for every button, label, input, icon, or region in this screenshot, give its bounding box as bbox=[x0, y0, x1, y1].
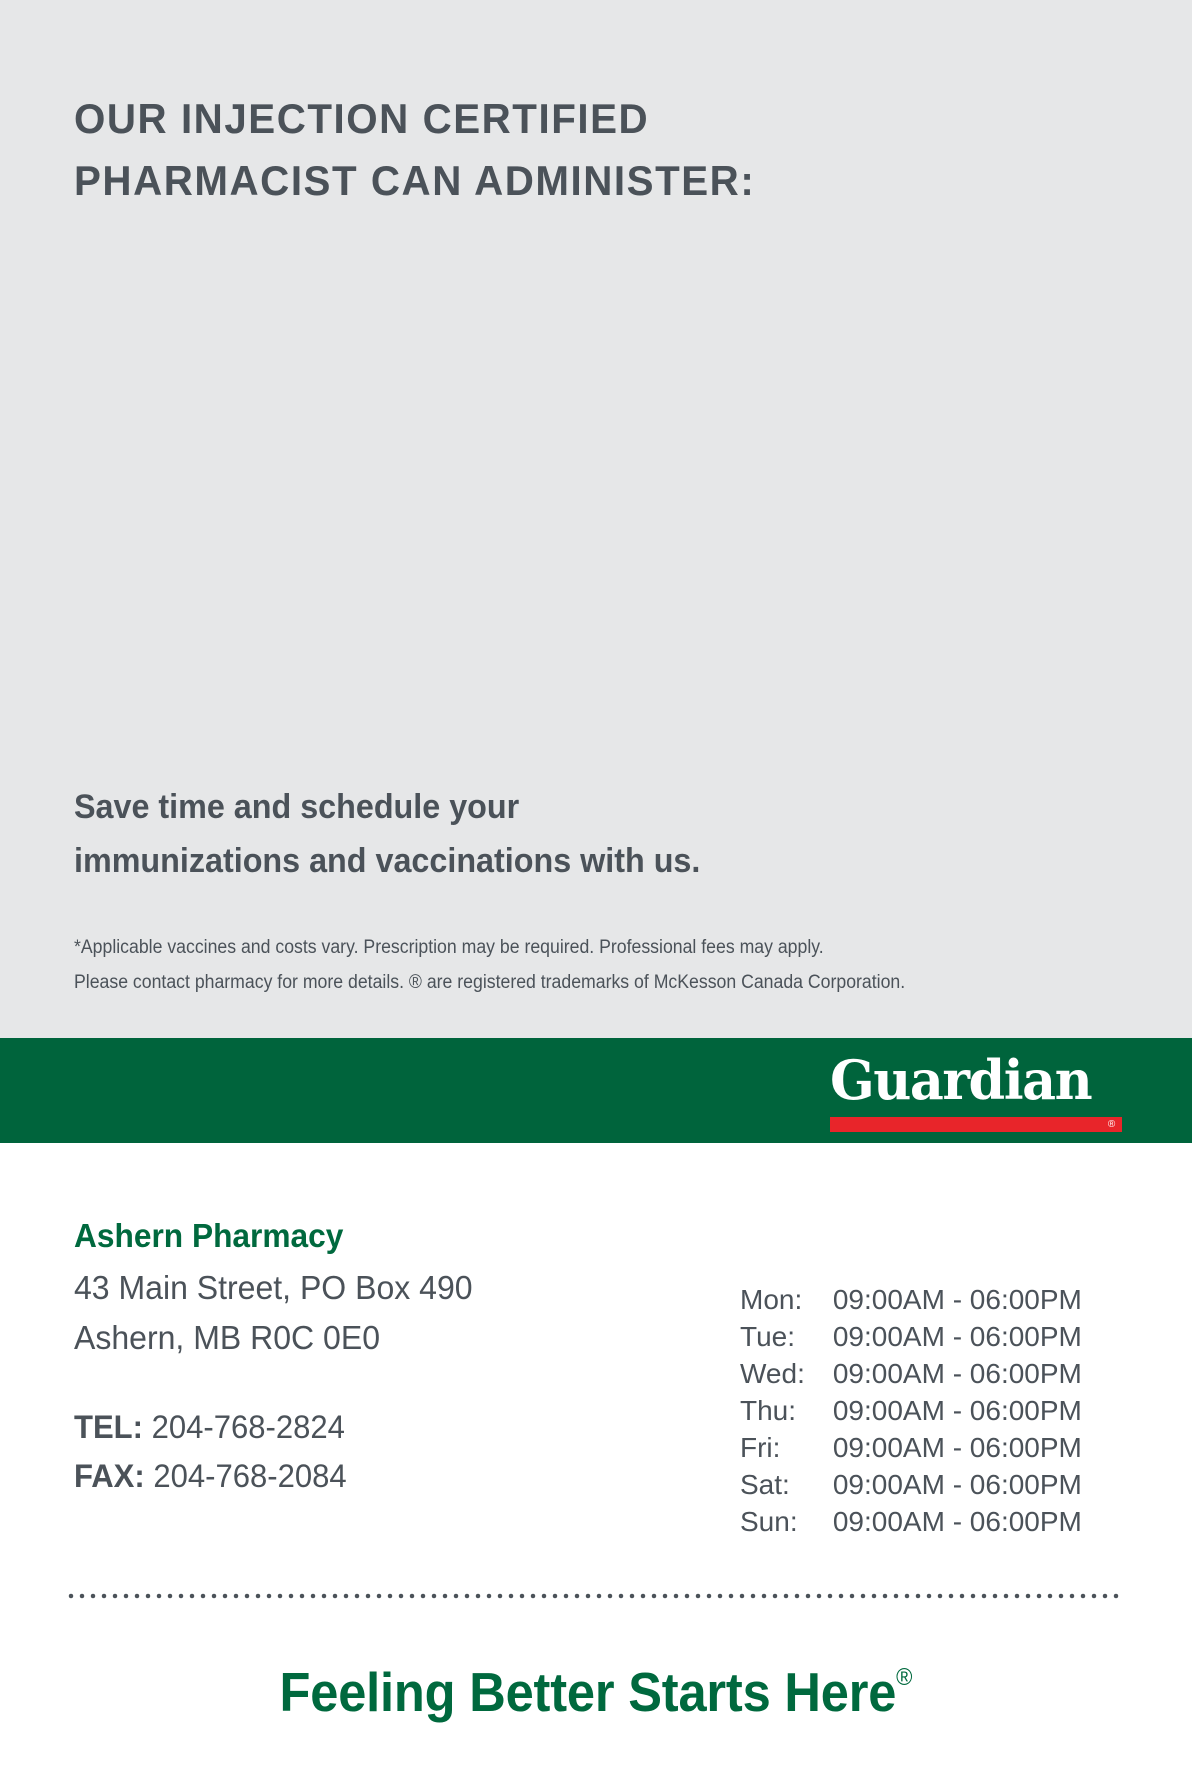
store-address-line-1: 43 Main Street, PO Box 490 bbox=[74, 1263, 675, 1313]
tagline-text: Feeling Better Starts Here bbox=[280, 1661, 897, 1723]
disclaimer-line-2: Please contact pharmacy for more details… bbox=[74, 965, 1069, 1000]
store-name: Ashern Pharmacy bbox=[74, 1215, 669, 1257]
table-row: Wed: 09:00AM - 06:00PM bbox=[740, 1361, 1082, 1398]
table-row: Tue: 09:00AM - 06:00PM bbox=[740, 1324, 1082, 1361]
disclaimer-line-1: *Applicable vaccines and costs vary. Pre… bbox=[74, 930, 1069, 965]
headline-line-2: PHARMACIST CAN ADMINISTER: bbox=[74, 150, 938, 212]
hours-time: 09:00AM - 06:00PM bbox=[833, 1435, 1082, 1472]
store-contact-block: TEL: 204-768-2824 FAX: 204-768-2084 bbox=[74, 1403, 675, 1501]
hours-time: 09:00AM - 06:00PM bbox=[833, 1361, 1082, 1398]
disclaimer-text: *Applicable vaccines and costs vary. Pre… bbox=[74, 930, 1069, 1000]
store-address-line-2: Ashern, MB R0C 0E0 bbox=[74, 1313, 675, 1363]
hours-time: 09:00AM - 06:00PM bbox=[833, 1398, 1082, 1435]
hours-day: Tue: bbox=[740, 1324, 833, 1361]
telephone-row: TEL: 204-768-2824 bbox=[74, 1403, 675, 1452]
hours-day: Fri: bbox=[740, 1435, 833, 1472]
page-title: OUR INJECTION CERTIFIED PHARMACIST CAN A… bbox=[74, 88, 938, 212]
logo-red-rule bbox=[830, 1117, 1122, 1132]
tagline-registered-trademark-icon: ® bbox=[896, 1664, 912, 1691]
hours-day: Thu: bbox=[740, 1398, 833, 1435]
hours-day: Sat: bbox=[740, 1472, 833, 1509]
table-row: Sat: 09:00AM - 06:00PM bbox=[740, 1472, 1082, 1509]
subheading-line-2: immunizations and vaccinations with us. bbox=[74, 834, 910, 888]
hours-day: Mon: bbox=[740, 1287, 833, 1324]
registered-trademark-icon: ® bbox=[1104, 1117, 1119, 1132]
store-address: 43 Main Street, PO Box 490 Ashern, MB R0… bbox=[74, 1263, 675, 1363]
table-row: Sun: 09:00AM - 06:00PM bbox=[740, 1509, 1082, 1546]
pharmacy-flyer: OUR INJECTION CERTIFIED PHARMACIST CAN A… bbox=[0, 0, 1192, 1785]
fax-value: 204-768-2084 bbox=[153, 1458, 346, 1494]
top-grey-panel: OUR INJECTION CERTIFIED PHARMACIST CAN A… bbox=[0, 0, 1192, 1038]
hours-time: 09:00AM - 06:00PM bbox=[833, 1287, 1082, 1324]
store-hours-table: Mon: 09:00AM - 06:00PM Tue: 09:00AM - 06… bbox=[740, 1287, 1082, 1546]
brand-band: Guardian ® bbox=[0, 1038, 1192, 1143]
table-row: Thu: 09:00AM - 06:00PM bbox=[740, 1398, 1082, 1435]
telephone-value[interactable]: 204-768-2824 bbox=[152, 1409, 345, 1445]
hours-time: 09:00AM - 06:00PM bbox=[833, 1472, 1082, 1509]
tagline-inner: Feeling Better Starts Here® bbox=[280, 1643, 913, 1727]
hours-time: 09:00AM - 06:00PM bbox=[833, 1509, 1082, 1546]
table-row: Fri: 09:00AM - 06:00PM bbox=[740, 1435, 1082, 1472]
hours-day: Sun: bbox=[740, 1509, 833, 1546]
telephone-label: TEL: bbox=[74, 1409, 143, 1445]
hours-time: 09:00AM - 06:00PM bbox=[833, 1324, 1082, 1361]
store-hours-body: Mon: 09:00AM - 06:00PM Tue: 09:00AM - 06… bbox=[740, 1287, 1082, 1546]
guardian-logo: Guardian ® bbox=[830, 1055, 1122, 1127]
fax-label: FAX: bbox=[74, 1458, 145, 1494]
store-info-block: Ashern Pharmacy 43 Main Street, PO Box 4… bbox=[74, 1215, 694, 1363]
subheading: Save time and schedule your immunization… bbox=[74, 780, 910, 888]
brand-tagline: Feeling Better Starts Here® bbox=[0, 1643, 1192, 1727]
fax-row: FAX: 204-768-2084 bbox=[74, 1452, 675, 1501]
subheading-line-1: Save time and schedule your bbox=[74, 780, 910, 834]
guardian-wordmark: Guardian bbox=[830, 1049, 1113, 1111]
table-row: Mon: 09:00AM - 06:00PM bbox=[740, 1287, 1082, 1324]
headline-line-1: OUR INJECTION CERTIFIED bbox=[74, 88, 938, 150]
dotted-divider bbox=[68, 1593, 1124, 1599]
hours-day: Wed: bbox=[740, 1361, 833, 1398]
